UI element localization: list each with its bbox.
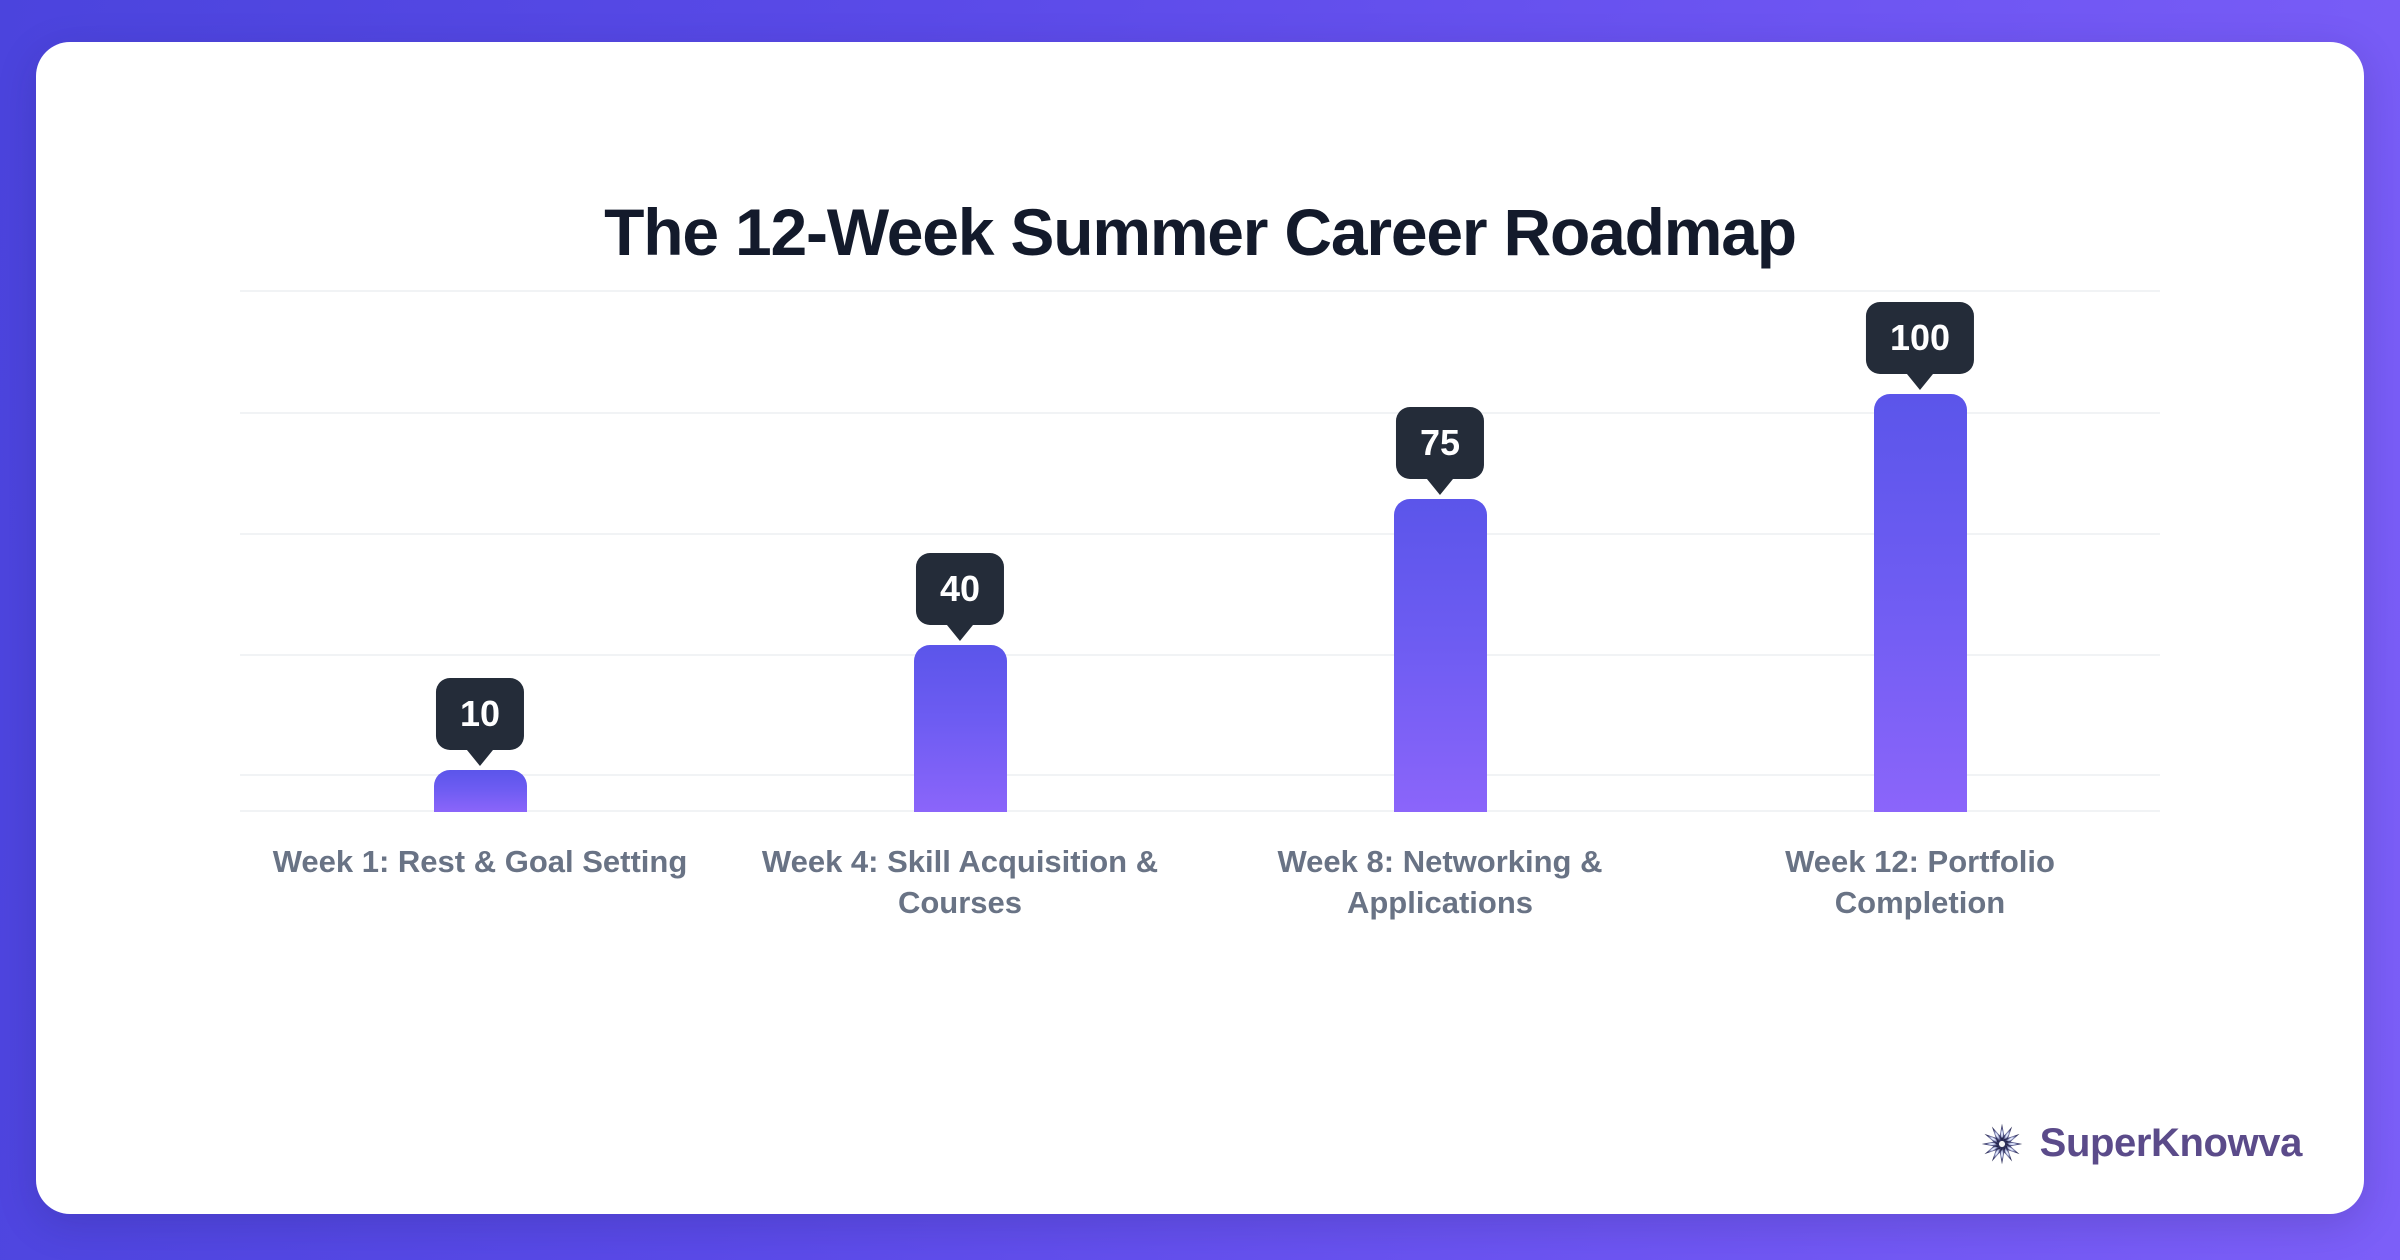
value-badge: 75	[1396, 407, 1484, 479]
bar[interactable]: 75	[1394, 499, 1487, 813]
starburst-icon	[1980, 1122, 2024, 1166]
bar-series: 10 40 75 100	[240, 290, 2160, 812]
chart-card: The 12-Week Summer Career Roadmap 10 40	[36, 42, 2364, 1214]
x-axis-label: Week 4: Skill Acquisition & Courses	[720, 842, 1200, 924]
bar-column: 10	[240, 290, 720, 812]
bar-column: 40	[720, 290, 1200, 812]
value-badge: 40	[916, 553, 1004, 625]
bar-column: 75	[1200, 290, 1680, 812]
value-badge: 10	[436, 678, 524, 750]
value-badge: 100	[1866, 302, 1974, 374]
bar[interactable]: 100	[1874, 394, 1967, 812]
bar[interactable]: 40	[914, 645, 1007, 812]
bar-column: 100	[1680, 290, 2160, 812]
x-axis-label: Week 12: Portfolio Completion	[1680, 842, 2160, 924]
x-axis-labels: Week 1: Rest & Goal Setting Week 4: Skil…	[240, 842, 2160, 924]
brand-logo: SuperKnowva	[1980, 1121, 2302, 1166]
x-axis-label: Week 8: Networking & Applications	[1200, 842, 1680, 924]
bar[interactable]: 10	[434, 770, 527, 812]
chart-plot-area: 10 40 75 100	[240, 290, 2160, 812]
brand-name: SuperKnowva	[2040, 1121, 2302, 1166]
x-axis-label: Week 1: Rest & Goal Setting	[240, 842, 720, 924]
page-title: The 12-Week Summer Career Roadmap	[36, 194, 2364, 270]
